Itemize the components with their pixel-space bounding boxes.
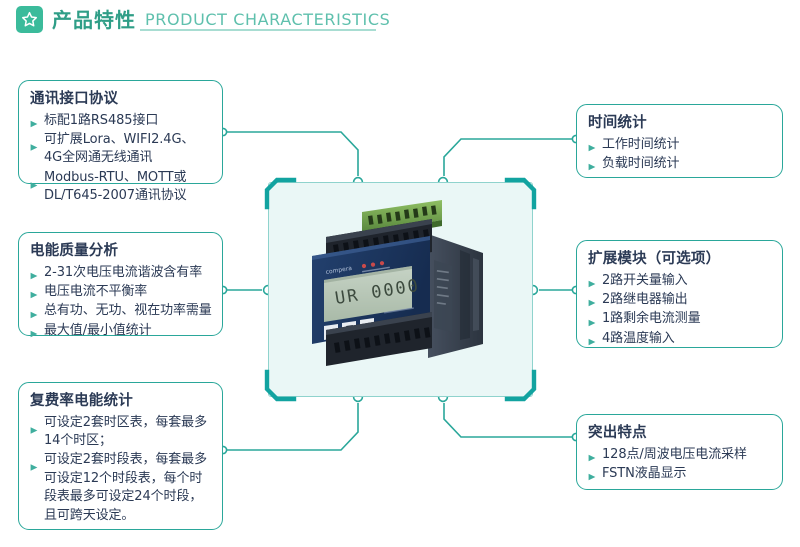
list-item-text: 128点/周波电压电流采样 [602,447,747,462]
arrow-bullet-icon [588,296,597,305]
arrow-bullet-icon [588,140,597,149]
info-box-list: 2-31次电压电流谐波含有率 电压电流不平衡率 总有功、无功、视在功率需量 最大… [30,264,212,341]
page-title-cn: 产品特性 [52,10,136,30]
list-item: 4路温度输入 [588,330,772,348]
list-item: Modbus-RTU、MOTT或DL/T645-2007通讯协议 [30,169,212,206]
list-item: 可扩展Lora、WIFI2.4G、4G全网通无线通讯 [30,131,212,168]
star-icon [16,6,43,33]
list-item-text: 可设定2套时段表，每套最多可设定12个时段表，每个时段表最多可设定24个时段，且… [44,452,207,522]
list-item: 1路剩余电流测量 [588,310,772,328]
arrow-bullet-icon [30,307,39,316]
list-item: 可设定2套时区表，每套最多14个时区； [30,414,212,451]
list-item-text: 4路温度输入 [602,331,675,346]
info-box-power-quality: 电能质量分析 2-31次电压电流谐波含有率 电压电流不平衡率 总有功、无功、视在… [18,232,223,336]
info-box-time-statistics: 时间统计 工作时间统计 负载时间统计 [576,104,783,178]
list-item: 2-31次电压电流谐波含有率 [30,264,212,282]
list-item: 负载时间统计 [588,155,772,173]
list-item-text: 总有功、无功、视在功率需量 [44,303,212,318]
list-item-text: 2路继电器输出 [602,292,688,307]
header-underline [140,29,376,31]
arrow-bullet-icon [588,160,597,169]
list-item: 2路继电器输出 [588,291,772,309]
arrow-bullet-icon [30,116,39,125]
arrow-bullet-icon [588,470,597,479]
frame-corner-top-right [504,177,538,211]
info-box-title: 扩展模块（可选项） [588,250,772,270]
info-box-title: 时间统计 [588,114,772,134]
list-item: 工作时间统计 [588,136,772,154]
arrow-bullet-icon [588,335,597,344]
info-box-title: 电能质量分析 [30,242,212,262]
list-item-text: 电压电流不平衡率 [44,284,147,299]
list-item: 最大值/最小值统计 [30,322,212,340]
frame-corner-bottom-left [263,368,297,402]
arrow-bullet-icon [30,140,39,149]
arrow-bullet-icon [588,315,597,324]
arrow-bullet-icon [30,268,39,277]
list-item: 标配1路RS485接口 [30,112,212,130]
list-item: 总有功、无功、视在功率需量 [30,302,212,320]
page-title-en: PRODUCT CHARACTERISTICS [145,12,390,28]
list-item-text: 可设定2套时区表，每套最多14个时区； [44,415,207,448]
info-box-tariff-energy-statistics: 复费率电能统计 可设定2套时区表，每套最多14个时区； 可设定2套时段表，每套最… [18,382,223,530]
arrow-bullet-icon [588,276,597,285]
info-box-list: 工作时间统计 负载时间统计 [588,136,772,174]
info-box-title: 通讯接口协议 [30,90,212,110]
arrow-bullet-icon [30,327,39,336]
list-item-text: 负载时间统计 [602,156,679,171]
list-item: FSTN液晶显示 [588,465,772,483]
list-item-text: 最大值/最小值统计 [44,323,151,338]
list-item: 2路开关量输入 [588,272,772,290]
list-item-text: 2-31次电压电流谐波含有率 [44,265,202,280]
list-item: 可设定2套时段表，每套最多可设定12个时段表，每个时段表最多可设定24个时段，且… [30,451,212,525]
info-box-title: 突出特点 [588,424,772,444]
list-item-text: Modbus-RTU、MOTT或DL/T645-2007通讯协议 [44,170,187,203]
list-item-text: 工作时间统计 [602,137,679,152]
product-image-din-rail-energy-meter: compera UR 0000 [300,198,505,376]
info-box-list: 2路开关量输入 2路继电器输出 1路剩余电流测量 4路温度输入 [588,272,772,349]
frame-corner-bottom-right [504,368,538,402]
info-box-list: 128点/周波电压电流采样 FSTN液晶显示 [588,446,772,484]
info-box-title: 复费率电能统计 [30,392,212,412]
list-item-text: 可扩展Lora、WIFI2.4G、4G全网通无线通讯 [44,132,194,165]
list-item-text: 2路开关量输入 [602,273,688,288]
arrow-bullet-icon [588,450,597,459]
info-box-list: 标配1路RS485接口 可扩展Lora、WIFI2.4G、4G全网通无线通讯 M… [30,112,212,206]
info-box-communication: 通讯接口协议 标配1路RS485接口 可扩展Lora、WIFI2.4G、4G全网… [18,80,223,184]
info-box-list: 可设定2套时区表，每套最多14个时区； 可设定2套时段表，每套最多可设定12个时… [30,414,212,526]
list-item-text: FSTN液晶显示 [602,466,686,481]
list-item-text: 1路剩余电流测量 [602,311,700,326]
info-box-highlights: 突出特点 128点/周波电压电流采样 FSTN液晶显示 [576,414,783,490]
frame-corner-top-left [263,177,297,211]
info-box-expansion-module: 扩展模块（可选项） 2路开关量输入 2路继电器输出 1路剩余电流测量 4路温度输… [576,240,783,348]
list-item-text: 标配1路RS485接口 [44,113,158,128]
list-item: 128点/周波电压电流采样 [588,446,772,464]
arrow-bullet-icon [30,288,39,297]
arrow-bullet-icon [30,423,39,432]
arrow-bullet-icon [30,178,39,187]
infographic-canvas: 产品特性 PRODUCT CHARACTERISTICS [0,0,800,547]
list-item: 电压电流不平衡率 [30,283,212,301]
arrow-bullet-icon [30,460,39,469]
